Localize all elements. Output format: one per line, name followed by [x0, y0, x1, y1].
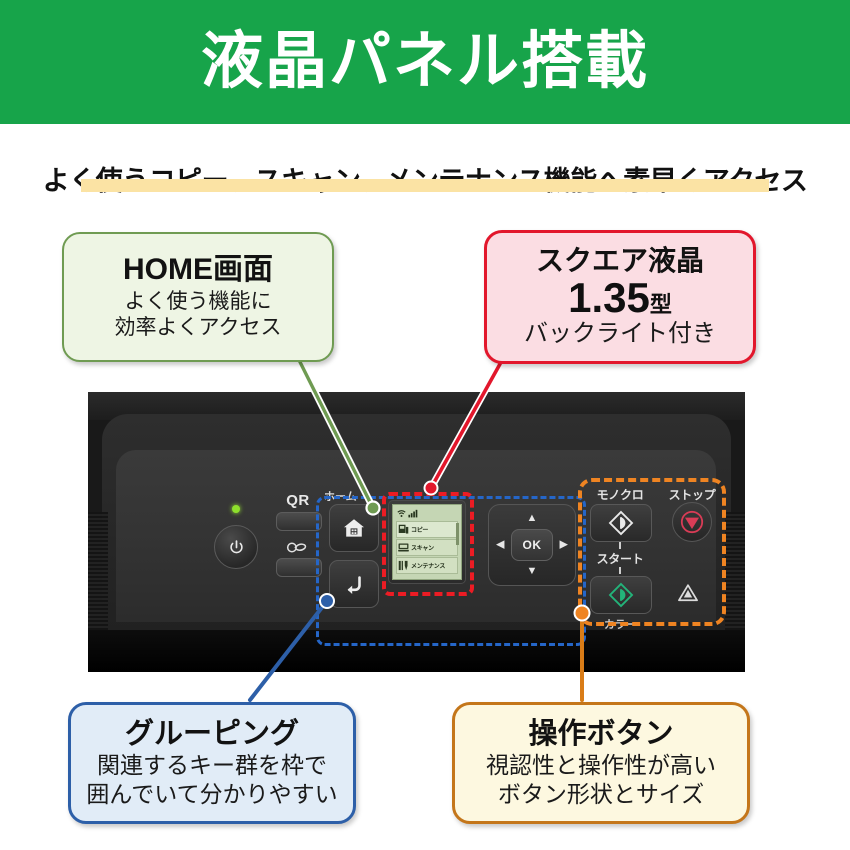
callout-grouping: グルーピング 関連するキー群を枠で 囲んでいて分かりやすい [68, 702, 356, 824]
lcd-size-unit: 型 [650, 292, 672, 317]
lcd-menu-item-scan[interactable]: スキャン [396, 539, 458, 556]
warning-triangle-icon [677, 583, 699, 603]
printer-base-shadow [88, 630, 745, 672]
lcd-menu-label: スキャン [411, 543, 434, 552]
callout-title: スクエア液晶 [536, 245, 704, 276]
qr-label: QR [278, 492, 318, 509]
callout-lcd-spec: スクエア液晶 1.35型 バックライト付き [484, 230, 756, 364]
stop-label: ストップ [664, 486, 720, 503]
network-button[interactable] [276, 558, 322, 577]
subheadline-highlight [81, 179, 770, 192]
lcd-screen: コピー スキャン [392, 504, 462, 580]
callout-title: HOME画面 [123, 253, 273, 287]
lcd-menu-label: コピー [411, 525, 428, 534]
dpad-left-button[interactable]: ◀ [496, 540, 504, 551]
start-diamond-icon [608, 582, 634, 608]
power-button[interactable] [214, 525, 258, 569]
lcd-status-bar [395, 507, 459, 520]
callout-line: 関連するキー群を枠で [97, 751, 327, 780]
lcd-scrollbar[interactable] [456, 523, 459, 545]
power-led-indicator [232, 505, 240, 513]
wifi-icon [397, 509, 406, 518]
scan-icon [398, 542, 409, 553]
callout-line: バックライト付き [524, 319, 716, 349]
signal-bars-icon [408, 509, 418, 518]
back-arrow-icon [341, 572, 367, 596]
lcd-menu-item-maintenance[interactable]: メンテナンス [396, 557, 458, 574]
navigation-dpad[interactable]: ▲ ▼ ◀ ▶ OK [488, 504, 576, 586]
subheadline-container: よく使うコピー、スキャン、メンテナンス機能へ素早くアクセス [0, 150, 850, 206]
lcd-menu-label: メンテナンス [411, 561, 445, 570]
mono-start-button[interactable] [590, 504, 652, 542]
dpad-down-button[interactable]: ▼ [527, 566, 538, 577]
callout-line: よく使う機能に [125, 289, 272, 315]
warning-indicator-icon [672, 578, 704, 608]
maintenance-icon [398, 560, 409, 571]
copy-icon [398, 524, 409, 535]
callout-line: 効率よくアクセス [115, 315, 282, 341]
home-button[interactable] [329, 504, 379, 552]
ok-button[interactable]: OK [511, 529, 553, 561]
subheadline: よく使うコピー、スキャン、メンテナンス機能へ素早くアクセス [39, 159, 812, 198]
callout-title: 操作ボタン [528, 718, 673, 750]
lcd-size-value: 1.35 [568, 274, 650, 321]
color-start-button[interactable] [590, 576, 652, 614]
start-bracket-bottom [619, 567, 621, 574]
house-icon [342, 516, 366, 540]
callout-line: 視認性と操作性が高い [486, 751, 716, 780]
callout-operation-buttons: 操作ボタン 視認性と操作性が高い ボタン形状とサイズ [452, 702, 750, 824]
dpad-right-button[interactable]: ▶ [560, 540, 568, 551]
back-button[interactable] [329, 560, 379, 608]
start-label: スタート [590, 550, 650, 567]
home-group-label: ホーム [324, 488, 384, 504]
network-link-icon [284, 538, 310, 556]
dpad-up-button[interactable]: ▲ [527, 513, 538, 524]
start-bracket-top [619, 542, 621, 549]
stop-button[interactable] [672, 502, 712, 542]
power-icon [228, 539, 245, 556]
header-banner: 液晶パネル搭載 [0, 0, 850, 124]
start-diamond-icon [608, 510, 634, 536]
callout-title: グルーピング [125, 718, 299, 750]
qr-button[interactable] [276, 512, 322, 531]
callout-lcd-size: 1.35型 [568, 277, 672, 319]
callout-line: 囲んでいて分かりやすい [86, 780, 337, 809]
page-title: 液晶パネル搭載 [201, 31, 649, 93]
mono-label: モノクロ [590, 486, 650, 503]
lcd-menu-item-copy[interactable]: コピー [396, 521, 458, 538]
color-label: カラー [590, 616, 650, 632]
lcd-display[interactable]: コピー スキャン [388, 500, 466, 584]
callout-home-screen: HOME画面 よく使う機能に 効率よくアクセス [62, 232, 334, 362]
stop-octagon-icon [680, 510, 704, 534]
printer-control-panel: QR ホーム [88, 392, 745, 672]
callout-line: ボタン形状とサイズ [498, 780, 704, 809]
panel-face: QR ホーム [116, 450, 716, 622]
